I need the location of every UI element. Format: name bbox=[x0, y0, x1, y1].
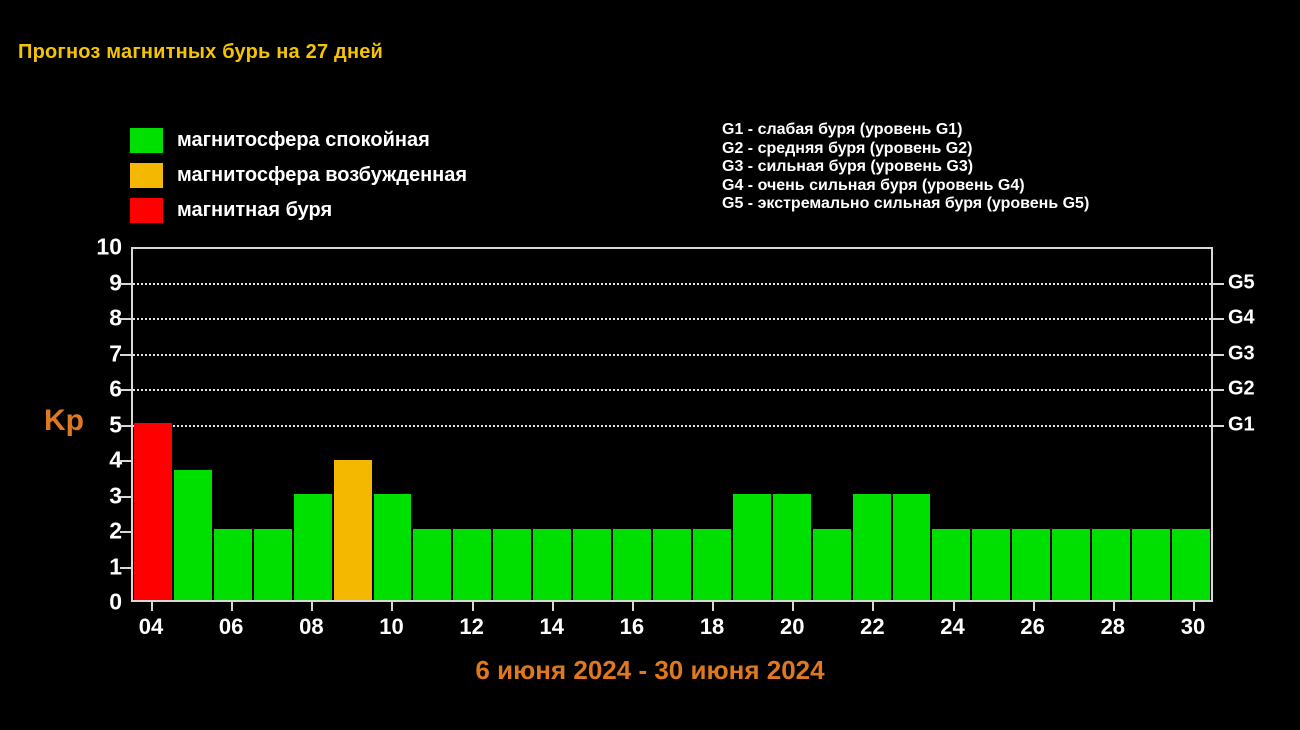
bar bbox=[334, 460, 372, 600]
bar-slot bbox=[971, 249, 1011, 600]
y-axis-tick-mark bbox=[120, 496, 131, 498]
g-scale-tick-label: G3 bbox=[1228, 342, 1255, 365]
g-scale-tick-mark bbox=[1213, 389, 1224, 391]
bar-slot bbox=[1131, 249, 1171, 600]
bar-slot bbox=[892, 249, 932, 600]
magnetic-storm-forecast-chart: Прогноз магнитных бурь на 27 дней магнит… bbox=[0, 0, 1300, 730]
bar-slot bbox=[253, 249, 293, 600]
x-axis-tick-mark bbox=[151, 602, 153, 611]
bar-series bbox=[133, 249, 1211, 600]
bar bbox=[853, 494, 891, 601]
y-axis-tick-mark bbox=[120, 318, 131, 320]
x-axis-tick-mark bbox=[792, 602, 794, 611]
y-axis-tick-label: 1 bbox=[82, 553, 122, 580]
y-axis-tick-label: 0 bbox=[82, 589, 122, 616]
y-axis-tick-mark bbox=[120, 531, 131, 533]
bar bbox=[693, 529, 731, 600]
bar bbox=[1172, 529, 1210, 600]
bar bbox=[1132, 529, 1170, 600]
x-axis-tick-mark bbox=[632, 602, 634, 611]
x-axis-tick-mark bbox=[712, 602, 714, 611]
x-axis-tick-label: 10 bbox=[379, 614, 403, 640]
page-title: Прогноз магнитных бурь на 27 дней bbox=[18, 41, 383, 64]
y-axis-tick-label: 3 bbox=[82, 482, 122, 509]
y-axis-tick-label: 10 bbox=[82, 234, 122, 261]
bar bbox=[1012, 529, 1050, 600]
y-axis-tick-mark bbox=[120, 389, 131, 391]
bar bbox=[893, 494, 931, 601]
color-legend: магнитосфера спокойнаямагнитосфера возбу… bbox=[130, 123, 467, 228]
y-axis-tick-label: 4 bbox=[82, 447, 122, 474]
x-axis-tick-label: 20 bbox=[780, 614, 804, 640]
bar-slot bbox=[532, 249, 572, 600]
bar-slot bbox=[1171, 249, 1211, 600]
y-axis-tick-mark bbox=[120, 354, 131, 356]
g-scale-tick-mark bbox=[1213, 318, 1224, 320]
y-axis-tick-label: 7 bbox=[82, 340, 122, 367]
g-scale-tick-label: G2 bbox=[1228, 378, 1255, 401]
x-axis-tick-mark bbox=[953, 602, 955, 611]
bar bbox=[1052, 529, 1090, 600]
x-axis-tick-mark bbox=[872, 602, 874, 611]
y-axis-label: Kp bbox=[44, 404, 84, 438]
y-axis-tick-mark bbox=[120, 567, 131, 569]
x-axis-tick-label: 16 bbox=[620, 614, 644, 640]
bar bbox=[972, 529, 1010, 600]
bar-slot bbox=[452, 249, 492, 600]
y-axis-tick-label: 8 bbox=[82, 305, 122, 332]
bar-slot bbox=[652, 249, 692, 600]
x-axis-title: 6 июня 2024 - 30 июня 2024 bbox=[0, 655, 1300, 686]
bar-slot bbox=[412, 249, 452, 600]
x-axis-tick-mark bbox=[231, 602, 233, 611]
y-axis-tick-label: 9 bbox=[82, 269, 122, 296]
bar-slot bbox=[1091, 249, 1131, 600]
bar bbox=[533, 529, 571, 600]
y-axis-tick-label: 2 bbox=[82, 518, 122, 545]
bar-slot bbox=[173, 249, 213, 600]
bar bbox=[493, 529, 531, 600]
g-scale-tick-mark bbox=[1213, 283, 1224, 285]
x-axis-tick-label: 12 bbox=[459, 614, 483, 640]
bar-slot bbox=[133, 249, 173, 600]
legend-item-label: магнитосфера спокойная bbox=[177, 129, 430, 152]
x-axis-tick-label: 18 bbox=[700, 614, 724, 640]
x-axis-tick-mark bbox=[311, 602, 313, 611]
x-axis-tick-label: 30 bbox=[1181, 614, 1205, 640]
gscale-legend-line: G2 - средняя буря (уровень G2) bbox=[722, 140, 1089, 159]
gscale-legend-line: G1 - слабая буря (уровень G1) bbox=[722, 121, 1089, 140]
bar-slot bbox=[852, 249, 892, 600]
plot-area bbox=[131, 247, 1213, 602]
bar bbox=[813, 529, 851, 600]
bar-slot bbox=[772, 249, 812, 600]
x-axis-tick-label: 04 bbox=[139, 614, 163, 640]
x-axis-tick-mark bbox=[472, 602, 474, 611]
bar-slot bbox=[692, 249, 732, 600]
gscale-legend-line: G3 - сильная буря (уровень G3) bbox=[722, 158, 1089, 177]
bar bbox=[214, 529, 252, 600]
bar bbox=[374, 494, 412, 601]
legend-color-swatch bbox=[130, 198, 163, 223]
bar bbox=[413, 529, 451, 600]
bar-slot bbox=[612, 249, 652, 600]
x-axis-tick-mark bbox=[1113, 602, 1115, 611]
y-axis-tick-mark bbox=[120, 425, 131, 427]
bar-slot bbox=[213, 249, 253, 600]
bar bbox=[134, 423, 172, 601]
bar-slot bbox=[732, 249, 772, 600]
bar-slot bbox=[1051, 249, 1091, 600]
x-axis-tick-label: 24 bbox=[940, 614, 964, 640]
x-axis-tick-label: 08 bbox=[299, 614, 323, 640]
x-axis-tick-mark bbox=[1033, 602, 1035, 611]
x-axis-tick-label: 06 bbox=[219, 614, 243, 640]
x-axis-tick-label: 28 bbox=[1101, 614, 1125, 640]
g-scale-tick-label: G5 bbox=[1228, 271, 1255, 294]
g-scale-tick-label: G4 bbox=[1228, 307, 1255, 330]
legend-item: магнитная буря bbox=[130, 193, 467, 228]
bar-slot bbox=[931, 249, 971, 600]
bar bbox=[613, 529, 651, 600]
bar bbox=[1092, 529, 1130, 600]
bar bbox=[733, 494, 771, 601]
y-axis-tick-label: 6 bbox=[82, 376, 122, 403]
bar bbox=[453, 529, 491, 600]
legend-color-swatch bbox=[130, 163, 163, 188]
bar-slot bbox=[812, 249, 852, 600]
y-axis-tick-label: 5 bbox=[82, 411, 122, 438]
x-axis-tick-mark bbox=[391, 602, 393, 611]
bar bbox=[294, 494, 332, 601]
legend-color-swatch bbox=[130, 128, 163, 153]
bar-slot bbox=[293, 249, 333, 600]
gscale-legend-line: G4 - очень сильная буря (уровень G4) bbox=[722, 177, 1089, 196]
bar bbox=[773, 494, 811, 601]
g-scale-tick-mark bbox=[1213, 354, 1224, 356]
x-axis-tick-mark bbox=[552, 602, 554, 611]
bar-slot bbox=[373, 249, 413, 600]
bar bbox=[254, 529, 292, 600]
legend-item: магнитосфера спокойная bbox=[130, 123, 467, 158]
x-axis-tick-label: 14 bbox=[540, 614, 564, 640]
x-axis-tick-label: 22 bbox=[860, 614, 884, 640]
y-axis-tick-mark bbox=[120, 460, 131, 462]
legend-item-label: магнитосфера возбужденная bbox=[177, 164, 467, 187]
bar bbox=[932, 529, 970, 600]
bar-slot bbox=[1011, 249, 1051, 600]
g-scale-tick-mark bbox=[1213, 425, 1224, 427]
x-axis-tick-mark bbox=[1193, 602, 1195, 611]
bar bbox=[174, 470, 212, 600]
legend-item-label: магнитная буря bbox=[177, 199, 332, 222]
x-axis-tick-label: 26 bbox=[1020, 614, 1044, 640]
bar bbox=[653, 529, 691, 600]
bar-slot bbox=[333, 249, 373, 600]
gscale-legend-line: G5 - экстремально сильная буря (уровень … bbox=[722, 195, 1089, 214]
g-scale-tick-label: G1 bbox=[1228, 413, 1255, 436]
gscale-legend: G1 - слабая буря (уровень G1)G2 - средня… bbox=[722, 121, 1089, 214]
bar bbox=[573, 529, 611, 600]
bar-slot bbox=[572, 249, 612, 600]
bar-slot bbox=[492, 249, 532, 600]
y-axis-tick-mark bbox=[120, 283, 131, 285]
legend-item: магнитосфера возбужденная bbox=[130, 158, 467, 193]
